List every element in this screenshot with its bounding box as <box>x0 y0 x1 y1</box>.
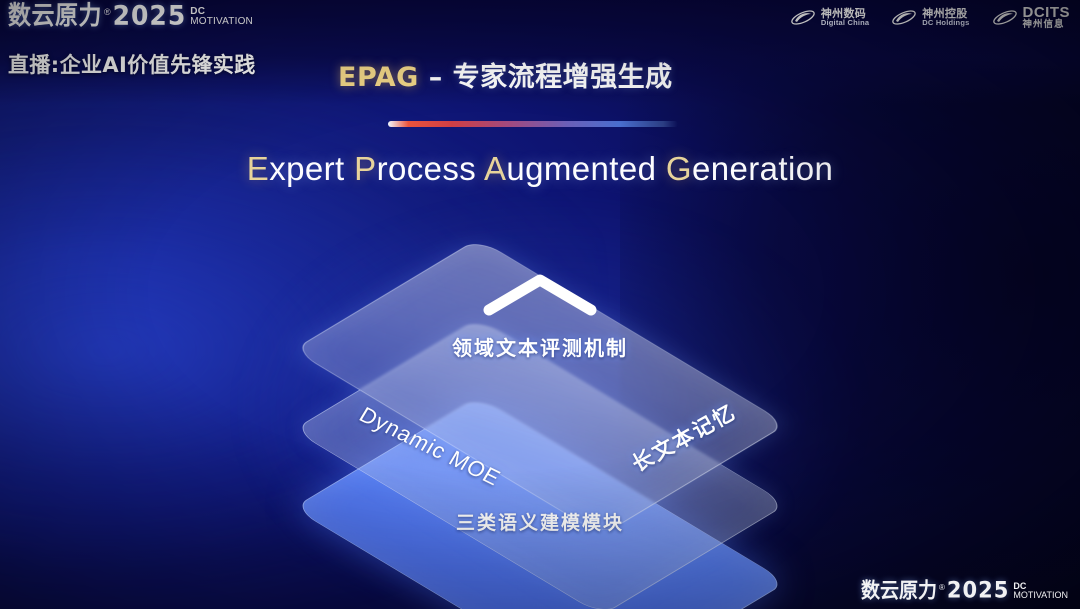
watermark-year: 2025 <box>947 579 1009 601</box>
slide-canvas: 数云原力 ® 2025 DC MOTIVATION 直播:企业AI价值先锋实践 … <box>0 0 1080 609</box>
watermark-registered-mark: ® <box>939 583 945 592</box>
diagram-layer-bottom-label: 三类语义建模模块 <box>0 508 1080 535</box>
layer-stack-diagram: 领域文本评测机制 Dynamic MOE 长文本记忆 三类语义建模模块 <box>0 0 1080 609</box>
diagram-layer-top-label: 领域文本评测机制 <box>0 332 1080 361</box>
watermark-logo: 数云原力 ® 2025 DC MOTIVATION <box>861 580 1068 601</box>
watermark-chinese: 数云原力 <box>861 581 937 602</box>
watermark-dc-motivation: DC MOTIVATION <box>1013 582 1068 600</box>
watermark-dc-line2: MOTIVATION <box>1013 591 1068 600</box>
chevron-up-icon <box>481 272 599 316</box>
